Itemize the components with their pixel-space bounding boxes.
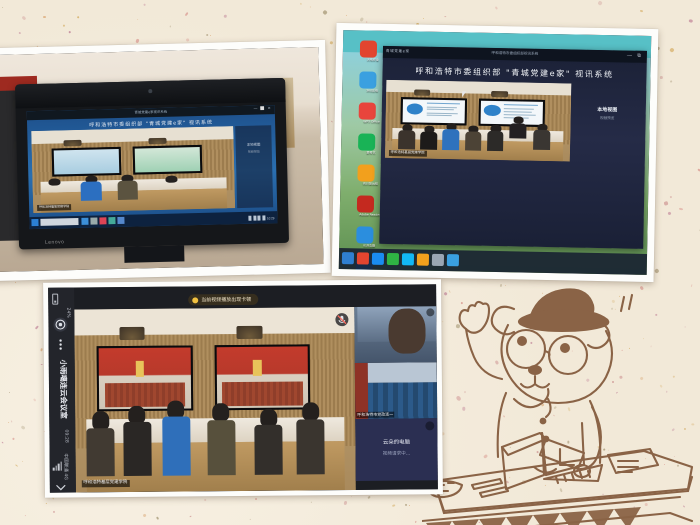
photo-laptop-content: Lenovo 青城党建e家视讯系统 — ⬜ ✕ 呼和浩特市委组织部 "青城党建e… [0, 47, 324, 272]
paper-fleck [185, 12, 189, 16]
paper-fleck [679, 208, 683, 211]
paper-fleck [9, 392, 10, 393]
paper-fleck [19, 32, 21, 34]
signal-bars-icon [53, 462, 62, 471]
conference-room-feed: 呼和浩特基层党建学院 [31, 126, 235, 213]
paper-fleck [495, 6, 498, 9]
paper-fleck [69, 30, 71, 32]
local-view-panel[interactable] [235, 125, 273, 208]
paper-fleck [169, 25, 170, 27]
paper-fleck [143, 3, 145, 5]
paper-fleck [63, 25, 65, 28]
meeting-title: 小雨噶连云会议室 [58, 360, 70, 419]
webcam-icon [148, 89, 152, 93]
main-video-caption: 呼和浩特基层党建学院 [81, 480, 129, 487]
taskbar-pinned-icons[interactable] [81, 217, 124, 225]
start-button-icon[interactable] [31, 219, 38, 226]
photo-phone-content: 24% 小雨噶连云会议室 09:28 中国联通 4G 当 [48, 284, 438, 492]
tray-icon[interactable] [258, 216, 261, 221]
taskbar-icon[interactable] [117, 217, 124, 224]
paper-fleck [330, 40, 334, 44]
desktop-icon-glyph [358, 133, 375, 150]
tray-icon[interactable] [253, 216, 256, 221]
brand-label: Lenovo [45, 239, 65, 245]
taskbar-icon[interactable] [90, 217, 97, 224]
system-tray[interactable]: 10:29 [249, 215, 275, 221]
paper-fleck [43, 16, 46, 18]
window-controls[interactable]: — ⧉ [627, 53, 643, 59]
windows-taskbar[interactable]: 10:29 [29, 211, 277, 229]
paper-fleck [46, 503, 47, 504]
paper-fleck [331, 121, 333, 123]
paper-fleck [11, 421, 13, 423]
paper-fleck [52, 498, 55, 501]
paper-fleck [2, 7, 4, 9]
carrier-label: 中国联通 4G [63, 454, 69, 480]
paper-fleck [300, 3, 301, 5]
paper-fleck [423, 18, 424, 19]
paper-fleck [204, 498, 207, 501]
participant-tile[interactable] [354, 306, 436, 363]
desktop-icon-glyph [357, 195, 374, 212]
paper-fleck [639, 10, 642, 12]
conference-room-feed: 呼和浩特基层党建学院 [385, 80, 571, 162]
bear-doodle-illustration [422, 269, 700, 525]
taskbar-icon[interactable] [342, 252, 354, 264]
conference-room-feed: 呼和浩特基层党建学院 [74, 307, 356, 492]
participant-label: 呼和浩特市党政连一 [356, 412, 394, 418]
remote-video-area[interactable]: 呼和浩特基层党建学院 [31, 126, 235, 213]
participant-status: 视频请求中… [356, 451, 438, 458]
paper-fleck [667, 211, 671, 215]
conference-app-window[interactable]: 青城党建e家视讯系统 — ⬜ ✕ 呼和浩特市委组织部 "青城党建e家" 视讯系统 [27, 105, 278, 229]
taskbar-icon[interactable] [387, 253, 399, 265]
paper-fleck [254, 497, 256, 500]
paper-fleck [311, 501, 312, 502]
paper-fleck [404, 503, 407, 506]
taskbar-icon[interactable] [108, 217, 115, 224]
paper-fleck [21, 460, 23, 462]
participant-name: 云朵的电脑 [355, 437, 437, 446]
paper-fleck [13, 438, 15, 440]
desktop-icon-glyph [357, 164, 374, 181]
paper-fleck [190, 516, 192, 517]
paper-fleck [76, 16, 78, 18]
search-input[interactable] [40, 218, 78, 226]
paper-fleck [346, 15, 347, 16]
warning-dot-icon [192, 297, 198, 303]
paper-fleck [310, 7, 311, 8]
paper-fleck [185, 37, 189, 41]
record-icon[interactable] [53, 318, 67, 332]
tv-stand [124, 245, 184, 262]
paper-fleck [21, 425, 26, 430]
mic-icon[interactable] [425, 421, 434, 430]
paper-fleck [392, 505, 396, 508]
paper-fleck [688, 19, 693, 23]
paper-fleck [32, 398, 36, 402]
paper-fleck [35, 325, 39, 329]
local-view-label: 本地视图 [573, 105, 642, 113]
paper-fleck [250, 519, 251, 520]
participant-waiting-tile[interactable]: 云朵的电脑 视频请求中… [355, 418, 438, 481]
paper-fleck [7, 422, 9, 424]
taskbar-icon[interactable] [432, 254, 444, 266]
paper-fleck [351, 496, 352, 497]
taskbar-icon[interactable] [372, 253, 384, 265]
taskbar-icon[interactable] [447, 254, 459, 266]
taskbar-icon[interactable] [99, 217, 106, 224]
photo-phone-screenshot[interactable]: 24% 小雨噶连云会议室 09:28 中国联通 4G 当 [43, 279, 443, 497]
desktop-icon-glyph [359, 71, 376, 88]
toast-notification: 当前视频播放出现卡顿 [188, 294, 258, 306]
taskbar-icon[interactable] [417, 254, 429, 266]
photo-monitor-content: 火绒安全360压缩WPS Office爱奇艺向日葵远程Adobe ReaderI… [339, 30, 652, 275]
taskbar-icon[interactable] [357, 253, 369, 265]
local-view-label: 本地视图 [236, 141, 272, 147]
paper-fleck [409, 505, 410, 506]
windows-taskbar[interactable] [339, 248, 647, 275]
paper-fleck [142, 513, 146, 517]
battery-percent: 24% [65, 308, 70, 318]
main-video-tile[interactable]: 呼和浩特基层党建学院 [74, 307, 356, 492]
window-controls[interactable]: — ⬜ ✕ [254, 106, 272, 110]
paper-fleck [41, 364, 43, 365]
paper-fleck [366, 22, 367, 23]
paper-fleck [2, 442, 4, 444]
desktop-icon-glyph [359, 102, 376, 119]
mic-icon[interactable] [426, 308, 434, 316]
paper-fleck [135, 39, 139, 43]
chevron-down-icon[interactable] [56, 480, 64, 488]
status-clock: 09:28 [63, 430, 68, 443]
paper-fleck [205, 34, 208, 37]
toast-message: 当前视频播放出现卡顿 [201, 296, 251, 303]
paper-fleck [210, 35, 211, 36]
mic-muted-icon[interactable] [335, 313, 348, 326]
app-title: 呼和浩特市委组织部 "青城党建e家" 视讯系统 [382, 65, 646, 81]
paper-fleck [367, 495, 371, 499]
paper-fleck [344, 501, 348, 505]
paper-fleck [40, 348, 42, 352]
paper-fleck [415, 520, 416, 522]
paper-fleck [670, 196, 673, 199]
taskbar-clock: 10:29 [267, 216, 275, 220]
battery-icon [52, 294, 58, 305]
paper-fleck [21, 15, 26, 20]
taskbar-icon[interactable] [81, 218, 88, 225]
tray-icon[interactable] [262, 215, 265, 220]
paper-fleck [322, 10, 328, 16]
mobile-conference-app[interactable]: 24% 小雨噶连云会议室 09:28 中国联通 4G 当 [48, 284, 438, 492]
windows-desktop[interactable]: 火绒安全360压缩WPS Office爱奇艺向日葵远程Adobe ReaderI… [339, 30, 652, 275]
paper-fleck [670, 80, 673, 83]
status-rail: 24% 小雨噶连云会议室 09:28 中国联通 4G [48, 287, 76, 492]
taskbar-icon[interactable] [402, 253, 414, 265]
mouse-cursor-icon [462, 91, 469, 97]
paper-fleck [156, 516, 159, 520]
paper-fleck [663, 201, 668, 206]
paper-fleck [25, 515, 26, 516]
paper-fleck [444, 16, 446, 18]
participant-thumbnail-column[interactable]: 呼和浩特市党政连一 云朵的电脑 视频请求中… [354, 306, 438, 490]
conference-app-window[interactable]: 青城党建e家 呼和浩特市委组织部视讯系统 — ⧉ 呼和浩特市委组织部 "青城党建… [379, 46, 647, 249]
desktop-icon-glyph [356, 226, 373, 243]
paper-fleck [360, 18, 364, 23]
paper-fleck [53, 510, 55, 513]
participant-tile[interactable]: 呼和浩特市党政连一 [355, 362, 437, 419]
photo-laptop-conference[interactable]: Lenovo 青城党建e家视讯系统 — ⬜ ✕ 呼和浩特市委组织部 "青城党建e… [0, 40, 331, 281]
paper-fleck [224, 15, 227, 18]
paper-fleck [670, 47, 675, 52]
desktop-icon-glyph [360, 40, 377, 57]
local-view-panel[interactable] [572, 83, 642, 162]
photo-desktop-monitor[interactable]: 火绒安全360压缩WPS Office爱奇艺向日葵远程Adobe ReaderI… [332, 23, 659, 282]
paper-fleck [660, 76, 663, 79]
remote-video-area[interactable]: 呼和浩特基层党建学院 [385, 80, 571, 162]
paper-fleck [15, 465, 18, 468]
television-bezel: Lenovo 青城党建e家视讯系统 — ⬜ ✕ 呼和浩特市委组织部 "青城党建e… [15, 78, 289, 250]
feed-caption: 呼和浩特基层党建学院 [389, 150, 427, 156]
paper-fleck [14, 282, 15, 283]
paper-fleck [597, 0, 602, 6]
feed-caption: 呼和浩特基层党建学院 [37, 204, 71, 210]
paper-fleck [137, 18, 138, 19]
more-options-icon[interactable] [54, 338, 68, 352]
tray-icon[interactable] [249, 216, 252, 221]
